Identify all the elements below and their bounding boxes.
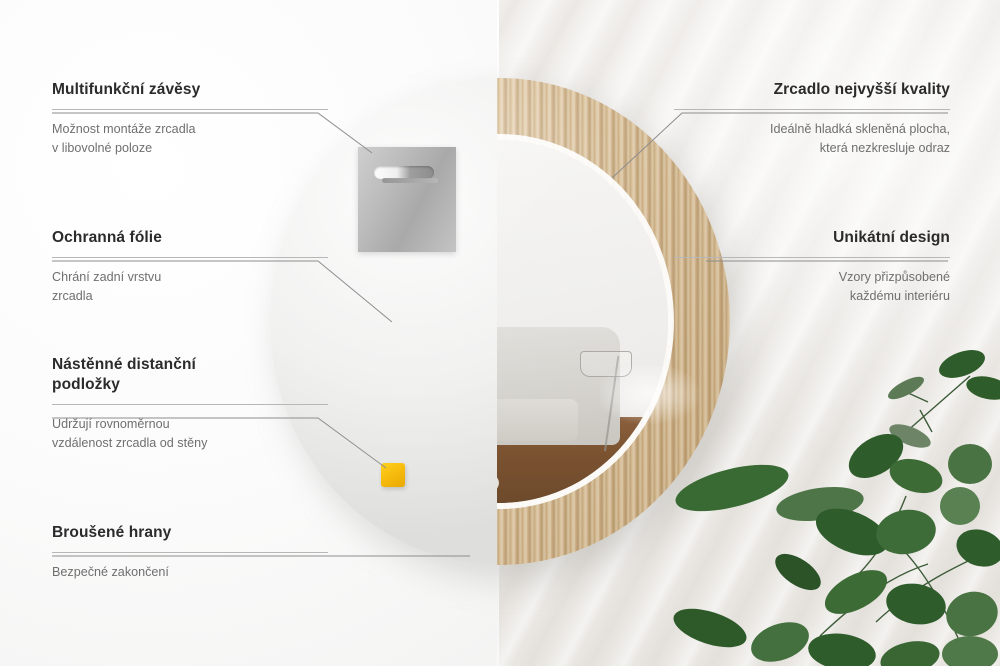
callout-body-line: Udržují rovnoměrnou xyxy=(52,417,170,431)
callout-body-line: Ideálně hladká skleněná plocha, xyxy=(770,122,950,136)
callout-title: Nástěnné distanční podložky xyxy=(52,355,328,395)
callout-body: Bezpečné zakončení xyxy=(52,563,328,582)
callout-body-line: vzdálenost zrcadla od stěny xyxy=(52,436,207,450)
callout-body: Vzory přizpůsobené každému interiéru xyxy=(674,268,950,306)
callout-body-line: Chrání zadní vrstvu xyxy=(52,270,161,284)
hanger-plate-icon xyxy=(358,147,456,252)
mirror-product xyxy=(270,78,730,565)
callout-rule xyxy=(52,109,328,110)
callout-body: Udržují rovnoměrnou vzdálenost zrcadla o… xyxy=(52,415,328,453)
callout-title-line: Nástěnné distanční xyxy=(52,356,196,373)
callout-rule xyxy=(674,109,950,110)
callout-body: Ideálně hladká skleněná plocha, která ne… xyxy=(674,120,950,158)
callout-rule xyxy=(52,257,328,258)
callout-body-line: Vzory přizpůsobené xyxy=(839,270,950,284)
callout-body-line: Možnost montáže zrcadla xyxy=(52,122,196,136)
callout-rule xyxy=(674,257,950,258)
mirror-disc xyxy=(270,78,730,565)
callout-nastenne-distancni-podlozky: Nástěnné distanční podložky Udržují rovn… xyxy=(52,355,328,452)
callout-multifunkcni-zavesy: Multifunkční závěsy Možnost montáže zrca… xyxy=(52,80,328,158)
callout-body-line: v libovolné poloze xyxy=(52,141,152,155)
callout-body-line: zrcadla xyxy=(52,289,93,303)
callout-body: Chrání zadní vrstvu zrcadla xyxy=(52,268,328,306)
callout-ochranna-folie: Ochranná fólie Chrání zadní vrstvu zrcad… xyxy=(52,228,328,306)
reflected-floor-lamp xyxy=(578,355,634,451)
callout-rule xyxy=(52,404,328,405)
hanger-slot-shadow xyxy=(382,178,438,183)
infographic-canvas: Multifunkční závěsy Možnost montáže zrca… xyxy=(0,0,1000,666)
callout-body: Možnost montáže zrcadla v libovolné polo… xyxy=(52,120,328,158)
callout-body-line: každému interiéru xyxy=(850,289,950,303)
callout-title: Unikátní design xyxy=(674,228,950,248)
callout-title: Multifunkční závěsy xyxy=(52,80,328,100)
callout-brousene-hrany: Broušené hrany Bezpečné zakončení xyxy=(52,523,328,582)
callout-rule xyxy=(52,552,328,553)
callout-title-line: podložky xyxy=(52,376,120,393)
eucalyptus-plant-icon xyxy=(670,336,1000,666)
callout-body-line: která nezkresluje odraz xyxy=(820,141,950,155)
wall-spacer-pad xyxy=(381,463,405,487)
callout-title: Zrcadlo nejvyšší kvality xyxy=(674,80,950,100)
callout-title: Ochranná fólie xyxy=(52,228,328,248)
callout-title: Broušené hrany xyxy=(52,523,328,543)
callout-zrcadlo-nejvyssi-kvality: Zrcadlo nejvyšší kvality Ideálně hladká … xyxy=(674,80,950,158)
callout-unikatni-design: Unikátní design Vzory přizpůsobené každé… xyxy=(674,228,950,306)
